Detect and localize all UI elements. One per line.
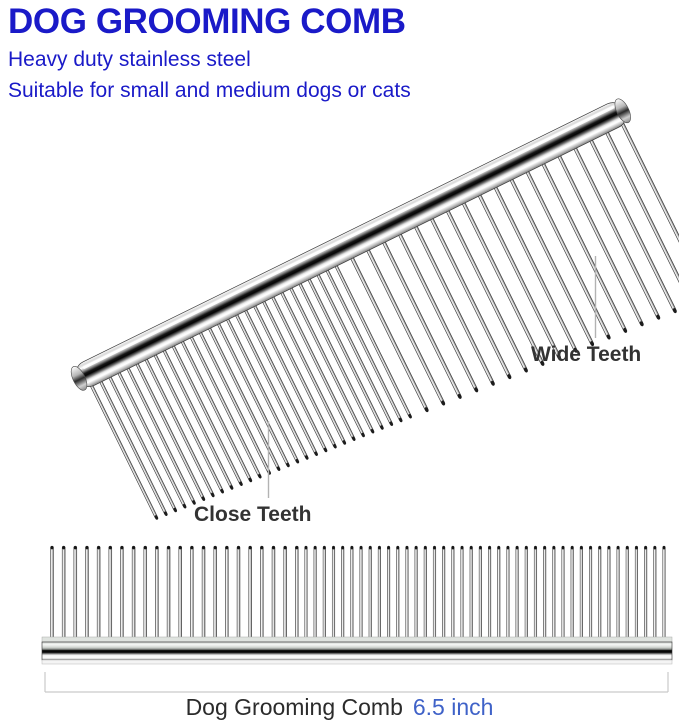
caption-measurement: 6.5 inch [413,694,494,720]
side-comb-tooth [442,546,445,641]
side-comb-tooth [626,546,629,641]
side-comb-tooth [120,546,123,641]
side-comb-tooth-tip [237,546,240,549]
side-comb-tooth [202,546,205,641]
comb-tooth-tip [370,428,375,434]
side-comb-tooth-tip [341,546,344,549]
side-comb-tooth-tip [85,546,88,549]
comb-tooth [555,150,643,324]
side-comb-tooth [470,546,473,641]
side-comb-tooth-tip [479,546,482,549]
side-comb-tooth-tip [497,546,500,549]
side-comb-tooth-tip [214,546,217,549]
side-comb-teeth [51,546,666,641]
comb-tooth-tip [201,496,206,502]
side-comb-tooth [190,546,193,641]
side-comb-tooth-tip [516,546,519,549]
side-comb-bar [42,642,672,660]
product-caption: Dog Grooming Comb6.5 inch [0,694,679,721]
side-comb-tooth [272,546,275,641]
comb-tooth-tip [182,503,187,509]
comb-tooth-tip [379,425,384,431]
side-comb-tooth-tip [396,546,399,549]
comb-tooth [523,166,610,338]
comb-tooth [179,336,252,481]
comb-tooth [539,158,626,331]
side-comb-tooth-tip [617,546,620,549]
side-comb-tooth [497,546,500,641]
side-comb-tooth-tip [260,546,263,549]
side-comb-tooth [51,546,54,641]
comb-tooth [296,278,373,432]
side-comb-tooth [284,546,287,641]
comb-tooth [314,269,392,424]
side-comb-tooth-tip [525,546,528,549]
side-comb-tooth [406,546,409,641]
side-comb-tooth-tip [190,546,193,549]
side-comb-tooth-tip [534,546,537,549]
main-comb-figure [68,96,679,561]
comb-tooth [151,349,223,491]
comb-tooth-tip [490,380,496,386]
side-comb-tooth-tip [598,546,601,549]
side-comb-tooth-tip [74,546,77,549]
main-comb-teeth [88,119,679,562]
side-comb-tooth-tip [470,546,473,549]
side-comb-tooth [378,546,381,641]
side-comb-tooth [516,546,519,641]
side-comb-tooth [260,546,263,641]
comb-tooth [619,119,679,298]
side-comb-tooth-tip [351,546,354,549]
comb-tooth-tip [672,307,678,313]
side-comb-tooth [433,546,436,641]
comb-tooth-tip [398,417,403,423]
side-comb-tooth [74,546,77,641]
side-comb-tooth [617,546,620,641]
comb-tooth-tip [342,440,347,446]
comb-tooth [124,363,195,503]
comb-tooth [242,305,317,454]
comb-tooth [508,174,594,344]
side-comb-tooth [225,546,228,641]
comb-tooth [460,197,544,364]
comb-tooth-tip [267,470,272,476]
side-comb-tooth-tip [589,546,592,549]
comb-tooth-tip [473,387,479,393]
side-comb-tooth-tip [332,546,335,549]
side-comb-tooth [387,546,390,641]
comb-tooth-tip [304,455,309,461]
side-comb-tooth-tip [507,546,510,549]
comb-tooth [412,221,494,384]
side-comb-tooth [534,546,537,641]
side-comb-tooth [132,546,135,641]
comb-tooth-tip [285,462,290,468]
comb-tooth-tip [239,481,244,487]
comb-tooth [142,354,214,496]
measurement-bracket [45,672,668,692]
side-comb-tooth [237,546,240,641]
side-comb-tooth [323,546,326,641]
comb-tooth [133,358,204,499]
side-comb-tooth [562,546,565,641]
comb-tooth-tip [163,511,168,517]
side-comb-tooth [608,546,611,641]
comb-tooth-tip [314,451,319,457]
side-comb-tooth [507,546,510,641]
comb-tooth [106,372,176,511]
caption-product-name: Dog Grooming Comb [186,694,403,720]
side-comb-tooth-tip [461,546,464,549]
side-comb-tooth-tip [272,546,275,549]
side-comb-tooth-tip [406,546,409,549]
side-comb-tooth [314,546,317,641]
comb-tooth-tip [257,473,262,479]
side-comb-tooth [144,546,147,641]
comb-tooth [224,314,299,462]
side-comb-tooth [214,546,217,641]
side-comb-tooth [167,546,170,641]
side-comb-figure [42,546,672,664]
comb-tooth-tip [220,488,225,494]
comb-tooth [492,182,577,351]
side-comb-tooth [461,546,464,641]
side-comb-tooth [415,546,418,641]
comb-tooth-tip [295,458,300,464]
side-comb-tooth [332,546,335,641]
comb-tooth [571,143,659,318]
side-comb-tooth-tip [120,546,123,549]
subtitle-suitability: Suitable for small and medium dogs or ca… [8,78,411,103]
comb-tooth [197,327,271,473]
side-comb-tooth-tip [553,546,556,549]
comb-tooth [364,244,444,403]
side-comb-tooth [580,546,583,641]
side-comb-tooth-tip [314,546,317,549]
side-comb-tooth-tip [654,546,657,549]
comb-tooth [476,190,561,358]
side-comb-tooth [396,546,399,641]
side-comb-tooth [305,546,308,641]
comb-tooth [380,237,461,397]
comb-tooth [88,381,157,519]
comb-tooth-tip [523,367,529,373]
side-comb-tooth [488,546,491,641]
comb-tooth [323,265,401,421]
side-comb-tooth-tip [644,546,647,549]
comb-tooth [188,332,261,477]
comb-tooth [444,205,527,370]
comb-tooth [305,274,383,428]
side-comb-tooth-tip [387,546,390,549]
side-comb-tooth-tip [249,546,252,549]
callout-close-teeth: Close Teeth [194,503,311,527]
comb-tooth-tip [351,436,356,442]
comb-tooth [278,287,355,439]
comb-tooth-tip [507,373,513,379]
side-comb-tooth [525,546,528,641]
side-comb-tooth-tip [663,546,666,549]
side-comb-tooth [479,546,482,641]
side-comb-tooth [341,546,344,641]
side-comb-tooth-tip [626,546,629,549]
side-comb-tooth-tip [179,546,182,549]
side-comb-tooth [644,546,647,641]
comb-tooth-tip [606,334,612,340]
side-comb-tooth-tip [144,546,147,549]
side-comb-tooth [369,546,372,641]
comb-tooth [603,127,679,305]
comb-tooth-tip [332,443,337,449]
side-comb-tooth-tip [284,546,287,549]
side-comb-tooth-tip [323,546,326,549]
side-comb-tooth-tip [225,546,228,549]
side-comb-tooth [109,546,112,641]
side-comb-tooth-tip [562,546,565,549]
comb-tooth-tip [154,515,159,521]
comb-tooth-tip [424,406,430,412]
comb-tooth-tip [210,492,215,498]
subtitle-material: Heavy duty stainless steel [8,47,251,72]
side-comb-tooth [663,546,666,641]
side-comb-tooth-tip [97,546,100,549]
comb-tooth [97,376,167,514]
comb-tooth [161,345,233,488]
side-comb-tooth-tip [51,546,54,549]
side-comb-tooth-tip [378,546,381,549]
comb-tooth [348,252,428,410]
comb-tooth [269,291,345,443]
side-comb-tooth [85,546,88,641]
side-comb-tooth-tip [167,546,170,549]
comb-tooth-tip [361,432,366,438]
side-comb-tooth-tip [580,546,583,549]
comb-tooth [115,367,185,507]
comb-tooth-tip [389,421,394,427]
comb-tooth-tip [440,400,446,406]
comb-tooth [332,260,411,417]
side-comb-tooth [424,546,427,641]
infographic-page: DOG GROOMING COMB Heavy duty stainless s… [0,0,679,726]
side-comb-tooth-tip [62,546,65,549]
comb-tooth [428,213,511,377]
side-comb-tooth-tip [202,546,205,549]
side-comb-tooth [452,546,455,641]
side-comb-tooth-tip [360,546,363,549]
side-comb-tooth-tip [571,546,574,549]
comb-tooth [170,340,243,484]
side-comb-tooth [598,546,601,641]
comb-tooth-tip [457,393,463,399]
comb-tooth [233,309,308,458]
side-comb-tooth [635,546,638,641]
side-comb-tooth [654,546,657,641]
side-comb-tooth [295,546,298,641]
side-comb-lip [42,660,672,664]
side-comb-tooth-tip [295,546,298,549]
side-comb-tooth-tip [305,546,308,549]
side-comb-tooth-tip [132,546,135,549]
side-comb-tooth-tip [415,546,418,549]
side-comb-tooth-tip [369,546,372,549]
comb-tooth-tip [622,327,628,333]
side-comb-tooth-tip [442,546,445,549]
side-comb-tooth [249,546,252,641]
side-comb-tooth-tip [155,546,158,549]
side-comb-tooth-tip [488,546,491,549]
comb-tooth [587,135,676,312]
side-comb-tooth [589,546,592,641]
side-comb-tooth [553,546,556,641]
side-comb-tooth [62,546,65,641]
side-comb-tooth-tip [543,546,546,549]
side-comb-shelf [42,637,672,642]
comb-tooth-tip [655,314,661,320]
side-comb-tooth [97,546,100,641]
comb-tooth [396,229,478,391]
comb-tooth-tip [408,413,413,419]
side-comb-tooth [155,546,158,641]
side-comb-tooth [351,546,354,641]
side-comb-tooth [543,546,546,641]
side-comb-tooth-tip [424,546,427,549]
side-comb-tooth [179,546,182,641]
side-comb-tooth-tip [452,546,455,549]
comb-tooth [287,283,364,436]
comb-tooth [215,318,289,465]
comb-tooth-tip [229,485,234,491]
side-comb-tooth-tip [433,546,436,549]
side-comb-tooth-tip [608,546,611,549]
side-comb-tooth-tip [109,546,112,549]
side-comb-tooth [360,546,363,641]
comb-tooth [206,323,280,470]
callout-wide-teeth: Wide Teeth [531,343,641,367]
side-comb-tooth-tip [635,546,638,549]
side-comb-tooth [571,546,574,641]
comb-tooth [251,300,327,450]
comb-tooth-tip [248,477,253,483]
comb-tooth-tip [276,466,281,472]
page-title: DOG GROOMING COMB [8,2,406,42]
comb-tooth-tip [173,507,178,513]
comb-tooth-tip [639,321,645,327]
comb-tooth-tip [323,447,328,453]
comb-tooth [260,296,336,447]
